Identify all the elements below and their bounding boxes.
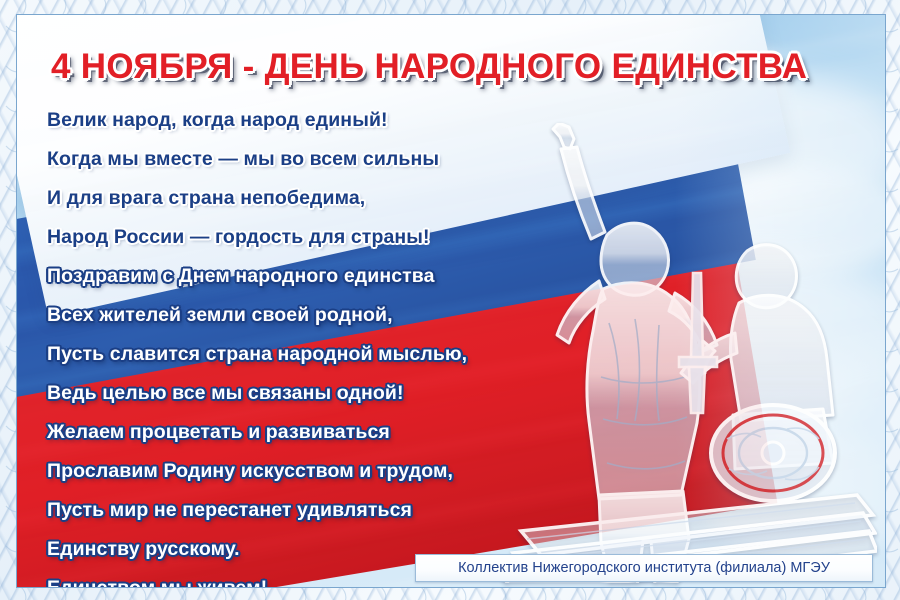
poem-block: Велик народ, когда народ единый! Когда м… <box>47 101 567 588</box>
poem-line: И для врага страна непобедима, <box>47 179 567 218</box>
poster-canvas: 4 НОЯБРЯ - ДЕНЬ НАРОДНОГО ЕДИНСТВА Велик… <box>16 14 886 588</box>
poem-line: Прославим Родину искусством и трудом, <box>47 452 567 491</box>
poem-line: Всех жителей земли своей родной, <box>47 296 567 335</box>
poem-line: Велик народ, когда народ единый! <box>47 101 567 140</box>
greeting-poster: 4 НОЯБРЯ - ДЕНЬ НАРОДНОГО ЕДИНСТВА Велик… <box>0 0 900 600</box>
poem-line: Ведь целью все мы связаны одной! <box>47 374 567 413</box>
page-title: 4 НОЯБРЯ - ДЕНЬ НАРОДНОГО ЕДИНСТВА <box>51 47 881 87</box>
poem-line: Народ России — гордость для страны! <box>47 218 567 257</box>
poem-line: Пусть мир не перестанет удивляться <box>47 491 567 530</box>
poem-line: Пусть славится страна народной мыслью, <box>47 335 567 374</box>
poem-line: Желаем процветать и развиваться <box>47 413 567 452</box>
poem-line: Когда мы вместе — мы во всем сильны <box>47 140 567 179</box>
credit-caption: Коллектив Нижегородского института (фили… <box>415 554 873 582</box>
poem-line: Поздравим с Днем народного единства <box>47 257 567 296</box>
